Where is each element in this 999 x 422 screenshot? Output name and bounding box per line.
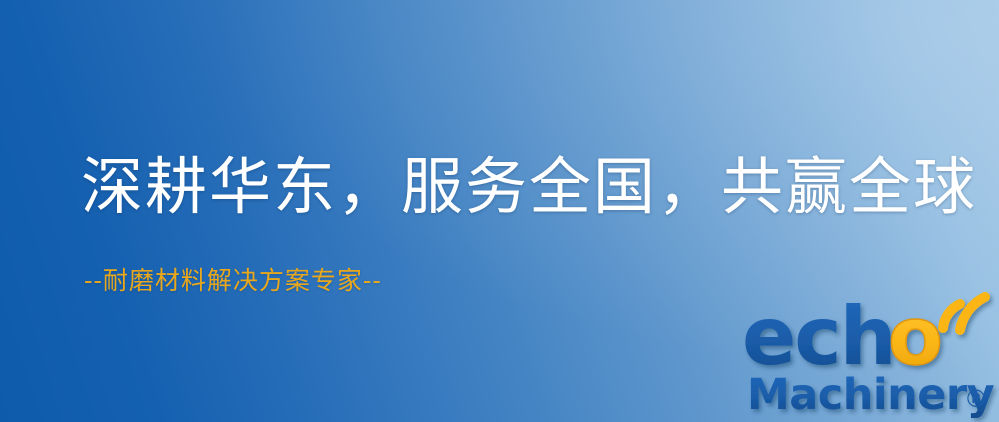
banner-headline: 深耕华东，服务全国，共赢全球 [81, 151, 977, 223]
logo-tagline-group: Machinery ® [747, 370, 995, 420]
echo-machinery-logo-graphic: ech o Machinery ® [744, 292, 999, 422]
company-logo: ech o Machinery ® [744, 292, 999, 422]
logo-tagline-machinery: Machinery [747, 370, 995, 420]
banner-content: 深耕华东，服务全国，共赢全球 --耐磨材料解决方案专家-- [0, 0, 999, 422]
banner-subtitle: --耐磨材料解决方案专家-- [84, 266, 382, 296]
promo-banner: 深耕华东，服务全国，共赢全球 --耐磨材料解决方案专家-- [0, 0, 999, 422]
registered-trademark-symbol: ® [964, 385, 988, 413]
echo-signal-arcs-icon [943, 297, 985, 330]
